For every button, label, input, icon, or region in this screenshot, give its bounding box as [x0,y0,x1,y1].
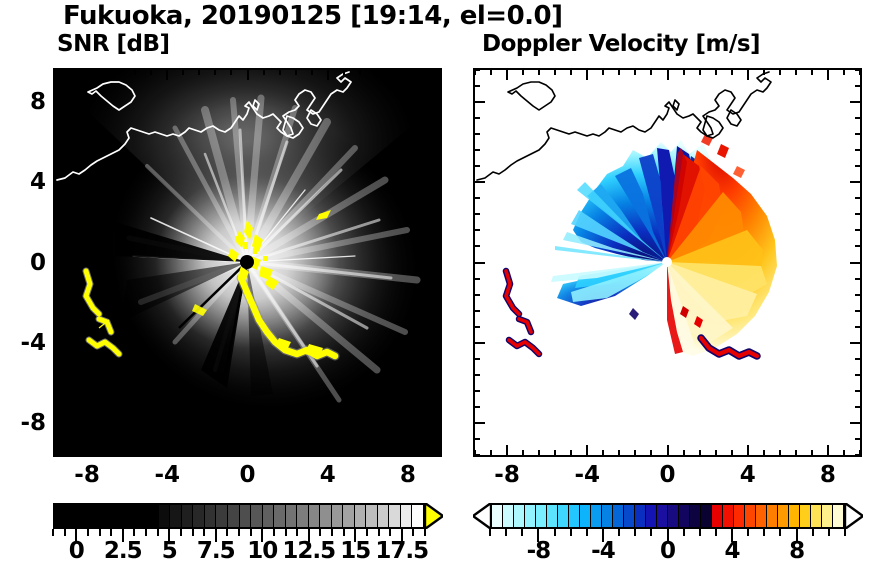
snr-colorbar-swatch [412,505,423,527]
doppler-colorbar-swatch [525,505,536,527]
snr-x-tick [295,450,297,456]
doppler-colorbar-swatch [558,505,569,527]
doppler-y-tick [855,390,861,392]
snr-colorbar-tick [87,529,89,536]
doppler-x-tick [634,450,636,456]
snr-x-tick [134,69,136,75]
doppler-colorbar-swatch [701,505,712,527]
doppler-x-tick [650,450,652,456]
snr-radar-image [55,70,440,455]
snr-colorbar-swatch [147,505,159,527]
snr-x-tick [423,69,425,75]
snr-colorbar-tick [99,529,101,536]
doppler-x-tick [763,69,765,75]
doppler-colorbar-body[interactable] [490,503,845,529]
doppler-colorbar-swatch [789,505,800,527]
snr-colorbar-tick [319,529,321,536]
snr-y-tick [435,85,441,87]
snr-y-tick [54,310,60,312]
doppler-x-tick-label: 0 [659,462,675,488]
doppler-x-tick [586,69,588,80]
snr-y-tick [54,454,60,456]
snr-y-tick [54,101,65,103]
snr-y-tick [435,165,441,167]
snr-y-tick [435,133,441,135]
snr-x-tick [391,69,393,75]
snr-y-tick [435,390,441,392]
snr-y-tick-label: 4 [30,169,46,195]
doppler-colorbar-swatch [536,505,547,527]
snr-colorbar-swatch [332,505,344,527]
snr-x-tick [343,69,345,75]
figure-root: Fukuoka, 20190125 [19:14, el=0.0] SNR [d… [0,0,870,570]
doppler-y-tick [474,422,485,424]
snr-x-tick [295,69,297,75]
snr-colorbar-swatch [67,505,79,527]
doppler-y-tick [855,85,861,87]
snr-colorbar-swatch [251,505,263,527]
doppler-y-tick [855,310,861,312]
snr-y-tick [54,326,60,328]
doppler-x-tick [506,69,508,80]
doppler-y-tick [855,438,861,440]
snr-colorbar-swatch [378,505,390,527]
snr-x-tick-label: 4 [320,462,336,488]
snr-x-tick [70,450,72,456]
doppler-colorbar-swatch [833,505,843,527]
snr-y-tick [54,245,60,247]
doppler-colorbar-tick [812,529,814,536]
snr-y-tick [435,197,441,199]
snr-x-tick-label: -4 [155,462,181,488]
doppler-y-tick [474,213,480,215]
snr-colorbar-swatch [90,505,102,527]
snr-y-tick [435,358,441,360]
snr-x-tick [102,69,104,75]
snr-x-tick [166,445,168,456]
doppler-colorbar-tick [489,529,491,536]
doppler-x-tick [747,69,749,80]
snr-y-tick [435,149,441,151]
doppler-colorbar-swatch [723,505,734,527]
doppler-x-tick-label: -4 [575,462,601,488]
snr-x-tick [198,450,200,456]
doppler-y-tick [474,181,485,183]
snr-x-tick [86,69,88,80]
snr-y-tick-label: 8 [30,89,46,115]
snr-over-range-arrow [425,503,443,529]
snr-colorbar-swatch [274,505,286,527]
snr-colorbar-tick-label: 17.5 [375,538,428,564]
doppler-x-tick [634,69,636,75]
doppler-colorbar-tick-label: -4 [591,538,615,564]
snr-colorbar-swatch [205,505,217,527]
snr-colorbar[interactable] [53,503,442,529]
snr-colorbar-tick [285,529,287,536]
snr-colorbar-swatch [355,505,367,527]
doppler-x-tick [731,450,733,456]
doppler-y-tick [474,133,480,135]
doppler-colorbar-swatch [569,505,580,527]
doppler-colorbar-tick [844,529,846,536]
snr-x-tick [182,69,184,75]
snr-colorbar-swatch [170,505,182,527]
doppler-x-tick [602,450,604,456]
doppler-colorbar-swatch [492,505,503,527]
doppler-x-tick [763,450,765,456]
doppler-colorbar-swatch [668,505,679,527]
doppler-x-tick [538,450,540,456]
snr-x-tick [407,69,409,80]
doppler-x-tick [731,69,733,75]
doppler-y-tick [855,358,861,360]
doppler-y-tick [474,438,480,440]
snr-x-tick [118,69,120,75]
snr-y-tick-label: -4 [20,330,46,356]
doppler-colorbar-tick-label: 0 [660,538,675,564]
doppler-x-tick [843,450,845,456]
snr-x-tick-label: 8 [400,462,416,488]
doppler-colorbar-tick [683,529,685,536]
doppler-x-tick [683,450,685,456]
doppler-colorbar-tick [505,529,507,536]
doppler-x-tick-label: 8 [820,462,836,488]
snr-y-tick [54,85,60,87]
snr-x-tick [263,450,265,456]
snr-x-tick [118,450,120,456]
snr-colorbar-tick [192,529,194,536]
snr-x-tick [230,450,232,456]
doppler-x-tick [779,450,781,456]
snr-x-tick [214,450,216,456]
snr-y-tick [430,101,441,103]
snr-colorbar-tick [203,529,205,536]
doppler-colorbar-swatch [624,505,635,527]
snr-colorbar-swatch [389,505,401,527]
snr-colorbar-tick [52,529,54,536]
doppler-y-tick [855,245,861,247]
snr-x-tick [279,69,281,75]
snr-colorbar-swatch [113,505,125,527]
snr-x-tick [311,450,313,456]
snr-y-tick [435,438,441,440]
doppler-y-tick [855,406,861,408]
doppler-y-tick [850,101,861,103]
doppler-colorbar-swatch [822,505,833,527]
doppler-colorbar-swatch [756,505,767,527]
doppler-x-tick [602,69,604,75]
doppler-y-tick [474,358,480,360]
doppler-radar-image [475,70,860,455]
doppler-y-tick [855,69,861,71]
snr-y-tick [54,278,60,280]
doppler-under-range-arrow [473,503,491,529]
snr-y-tick [435,117,441,119]
snr-x-tick [247,445,249,456]
doppler-colorbar-swatch [591,505,602,527]
doppler-x-tick [859,450,861,456]
radar-origin [240,255,254,269]
doppler-plot-area [475,70,860,455]
doppler-x-tick [699,69,701,75]
snr-colorbar-swatch [240,505,252,527]
snr-colorbar-tick [378,529,380,536]
snr-colorbar-swatch [263,505,275,527]
snr-colorbar-tick-label: 15 [340,538,370,564]
snr-y-tick [435,69,441,71]
snr-y-tick [54,358,60,360]
doppler-x-tick [827,445,829,456]
doppler-colorbar[interactable] [473,503,862,529]
doppler-x-tick [683,69,685,75]
doppler-y-tick [855,326,861,328]
doppler-x-tick [667,69,669,80]
snr-colorbar-swatch [320,505,332,527]
snr-y-tick [54,390,60,392]
doppler-x-tick [506,445,508,456]
snr-x-tick [439,450,441,456]
snr-plot-panel[interactable] [53,68,442,457]
doppler-colorbar-swatch [745,505,756,527]
doppler-y-tick [474,117,480,119]
snr-y-tick [54,181,65,183]
doppler-colorbar-tick [554,529,556,536]
snr-x-tick [391,450,393,456]
snr-colorbar-tick [226,529,228,536]
snr-y-tick [54,165,60,167]
snr-x-tick [359,69,361,75]
doppler-x-tick [618,450,620,456]
snr-x-tick-label: 0 [239,462,255,488]
doppler-y-tick [474,326,480,328]
doppler-colorbar-swatch [547,505,558,527]
snr-colorbar-swatch [216,505,228,527]
snr-y-tick [435,294,441,296]
snr-y-tick [430,422,441,424]
doppler-colorbar-tick [586,529,588,536]
snr-colorbar-tick [296,529,298,536]
snr-x-tick [247,69,249,80]
snr-x-tick [375,69,377,75]
doppler-x-tick [570,450,572,456]
doppler-y-tick [855,294,861,296]
doppler-y-tick [855,278,861,280]
doppler-colorbar-tick [828,529,830,536]
doppler-colorbar-tick [715,529,717,536]
doppler-colorbar-tick [521,529,523,536]
doppler-y-tick [850,181,861,183]
doppler-y-tick [474,245,480,247]
doppler-colorbar-swatch [690,505,701,527]
snr-colorbar-tick [343,529,345,536]
doppler-x-tick [715,69,717,75]
snr-colorbar-swatch [136,505,148,527]
snr-x-tick [311,69,313,75]
snr-colorbar-tick [250,529,252,536]
snr-y-tick [435,278,441,280]
snr-colorbar-tick [145,529,147,536]
snr-colorbar-tick-label: 12.5 [282,538,335,564]
doppler-colorbar-tick [779,529,781,536]
snr-colorbar-tick [64,529,66,536]
snr-colorbar-swatch [286,505,298,527]
doppler-colorbar-swatch [503,505,514,527]
doppler-y-tick [474,278,480,280]
snr-colorbar-tick [273,529,275,536]
snr-colorbar-tick [389,529,391,536]
doppler-y-tick [474,294,480,296]
snr-y-tick [435,229,441,231]
doppler-y-tick [855,149,861,151]
snr-y-tick [54,262,65,264]
snr-colorbar-tick [110,529,112,536]
snr-colorbar-tick-label: 7.5 [197,538,235,564]
snr-x-tick [166,69,168,80]
doppler-y-tick [474,197,480,199]
snr-y-tick [54,406,60,408]
snr-x-tick [70,69,72,75]
snr-y-tick [430,181,441,183]
snr-colorbar-tick [157,529,159,536]
snr-y-tick [435,406,441,408]
snr-colorbar-tick [133,529,135,536]
snr-y-tick [54,438,60,440]
doppler-y-tick [474,310,480,312]
right-panel-title: Doppler Velocity [m/s] [482,31,760,57]
doppler-colorbar-swatch [800,505,811,527]
doppler-y-tick [474,262,485,264]
snr-y-tick [435,213,441,215]
doppler-colorbar-tick-label: -8 [527,538,551,564]
snr-x-tick [327,69,329,80]
snr-colorbar-tick [412,529,414,536]
doppler-colorbar-swatch [657,505,668,527]
doppler-x-tick [490,69,492,75]
snr-colorbar-swatch [124,505,136,527]
doppler-x-tick [715,450,717,456]
snr-y-tick [435,310,441,312]
doppler-y-tick [474,69,480,71]
doppler-plot-panel[interactable] [473,68,862,457]
doppler-y-tick [850,342,861,344]
snr-plot-area [55,70,440,455]
doppler-x-tick [554,69,556,75]
doppler-colorbar-swatch [712,505,723,527]
snr-colorbar-swatch [78,505,90,527]
doppler-y-tick [850,422,861,424]
snr-colorbar-body[interactable] [53,503,425,529]
snr-x-tick [198,69,200,75]
doppler-colorbar-swatch [635,505,646,527]
doppler-y-tick [474,165,480,167]
snr-colorbar-tick [424,529,426,536]
snr-y-tick [54,133,60,135]
snr-colorbar-tick [180,529,182,536]
snr-x-tick [407,445,409,456]
doppler-colorbar-swatch [767,505,778,527]
snr-colorbar-tick-label: 5 [162,538,177,564]
doppler-y-tick [474,229,480,231]
doppler-y-tick [855,165,861,167]
snr-x-tick [150,450,152,456]
snr-y-tick [54,374,60,376]
doppler-x-tick [811,450,813,456]
snr-x-tick [343,450,345,456]
figure-title: Fukuoka, 20190125 [19:14, el=0.0] [63,1,563,31]
snr-y-tick [430,262,441,264]
snr-colorbar-tick [331,529,333,536]
doppler-colorbar-swatch [514,505,525,527]
snr-colorbar-swatch [101,505,113,527]
snr-y-tick-label: -8 [20,410,46,436]
radar-origin [662,257,672,267]
doppler-colorbar-swatch [580,505,591,527]
snr-y-tick [54,422,65,424]
doppler-y-tick [855,213,861,215]
doppler-x-tick [522,450,524,456]
doppler-x-tick [570,69,572,75]
snr-colorbar-swatch [343,505,355,527]
snr-y-tick [435,245,441,247]
doppler-colorbar-tick [634,529,636,536]
snr-colorbar-tick [366,529,368,536]
doppler-colorbar-tick [618,529,620,536]
snr-x-tick [134,450,136,456]
snr-colorbar-swatch [366,505,378,527]
snr-x-tick [359,450,361,456]
doppler-y-tick [855,374,861,376]
snr-colorbar-tick-label: 2.5 [104,538,142,564]
doppler-x-tick-label: 4 [740,462,756,488]
snr-colorbar-swatch [159,505,171,527]
doppler-colorbar-tick-label: 8 [789,538,804,564]
doppler-y-tick [474,149,480,151]
doppler-y-tick [855,133,861,135]
doppler-colorbar-swatch [679,505,690,527]
doppler-x-tick [699,450,701,456]
doppler-colorbar-tick-label: 4 [725,538,740,564]
doppler-x-tick [618,69,620,75]
doppler-colorbar-swatch [646,505,657,527]
snr-colorbar-tick [238,529,240,536]
doppler-colorbar-swatch [734,505,745,527]
doppler-x-tick [650,69,652,75]
snr-colorbar-swatch [55,505,67,527]
doppler-y-tick [474,390,480,392]
snr-y-tick-label: 0 [30,250,46,276]
snr-x-tick [214,69,216,75]
doppler-colorbar-tick [699,529,701,536]
snr-colorbar-tick-label: 10 [247,538,277,564]
doppler-y-tick [474,85,480,87]
snr-x-tick [423,450,425,456]
snr-x-tick [150,69,152,75]
snr-x-tick [263,69,265,75]
snr-colorbar-swatch [401,505,413,527]
snr-colorbar-tick-label: 0 [69,538,84,564]
doppler-x-tick [795,450,797,456]
snr-y-tick [54,294,60,296]
snr-y-tick [54,117,60,119]
doppler-colorbar-swatch [778,505,789,527]
doppler-y-tick [855,117,861,119]
snr-x-tick [230,69,232,75]
doppler-y-tick [850,262,861,264]
doppler-over-range-arrow [845,503,863,529]
doppler-x-tick [843,69,845,75]
snr-colorbar-swatch [193,505,205,527]
doppler-x-tick [811,69,813,75]
